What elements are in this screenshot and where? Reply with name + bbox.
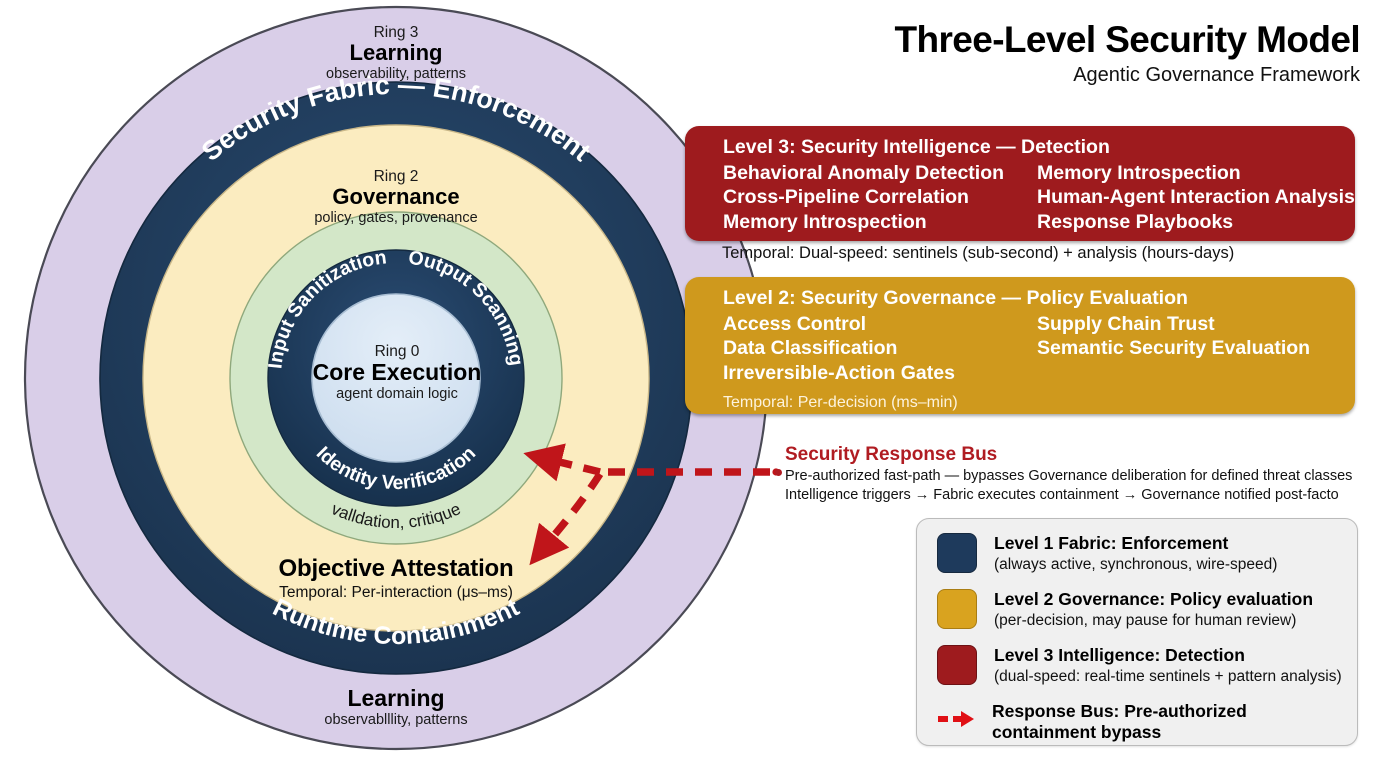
ring0-number: Ring 0 [286, 343, 508, 360]
ring3-bottom-label: Learning observablllity, patterns [246, 686, 546, 728]
level2-item: Data Classification [723, 336, 1037, 361]
ring0-name: Core Execution [286, 360, 508, 386]
level3-item: Cross-Pipeline Correlation [723, 185, 1037, 210]
response-bus-bullet-icon [775, 469, 782, 476]
ring2-sub: policy, gates, provenance [246, 210, 546, 226]
objective-attestation-label: Objective Attestation Temporal: Per-inte… [236, 555, 556, 602]
level2-temporal: Temporal: Per-decision (ms–min) [723, 394, 1355, 412]
legend-dashed-arrow-icon [937, 708, 975, 730]
ring3-top-label: Ring 3 Learning observability, patterns [246, 24, 546, 82]
level3-column-right: Memory Introspection Human-Agent Interac… [1037, 161, 1355, 235]
ring3-sub: observability, patterns [246, 66, 546, 82]
level3-temporal: Temporal: Dual-speed: sentinels (sub-sec… [722, 244, 1234, 263]
ring2-number: Ring 2 [246, 168, 546, 185]
level3-intelligence-panel[interactable]: Level 3: Security Intelligence — Detecti… [685, 126, 1355, 241]
level3-item: Memory Introspection [1037, 161, 1355, 186]
legend-title: Level 2 Governance: Policy evaluation [994, 589, 1313, 610]
ring3-number: Ring 3 [246, 24, 546, 41]
legend-item-level1: Level 1 Fabric: Enforcement (always acti… [937, 533, 1277, 574]
page-subtitle: Agentic Governance Framework [700, 64, 1360, 86]
legend-sub: (dual-speed: real-time sentinels + patte… [994, 667, 1342, 686]
legend-item-response-bus: Response Bus: Pre-authorized containment… [937, 701, 1247, 743]
legend-swatch-navy-icon [937, 533, 977, 573]
level3-column-left: Behavioral Anomaly Detection Cross-Pipel… [723, 161, 1037, 235]
level2-item: Semantic Security Evaluation [1037, 336, 1310, 361]
legend-title: Level 3 Intelligence: Detection [994, 645, 1342, 666]
level3-item: Response Playbooks [1037, 210, 1355, 235]
objective-attestation-temporal: Temporal: Per-interaction (μs–ms) [236, 584, 556, 602]
level3-item: Behavioral Anomaly Detection [723, 161, 1037, 186]
legend-swatch-gold-icon [937, 589, 977, 629]
response-bus-text-block: Security Response Bus Pre-authorized fas… [785, 444, 1355, 505]
ring2-top-label: Ring 2 Governance policy, gates, provena… [246, 168, 546, 226]
legend-sub: (always active, synchronous, wire-speed) [994, 555, 1277, 574]
level2-item: Supply Chain Trust [1037, 312, 1310, 337]
ring0-sub: agent domain logic [286, 386, 508, 402]
level3-item: Human-Agent Interaction Analysis [1037, 185, 1355, 210]
legend-sub: containment bypass [992, 722, 1247, 743]
response-bus-line1: Pre-authorized fast-path — bypasses Gove… [785, 467, 1355, 486]
legend-item-level3: Level 3 Intelligence: Detection (dual-sp… [937, 645, 1342, 686]
ring3-bottom-name: Learning [246, 686, 546, 712]
legend-item-level2: Level 2 Governance: Policy evaluation (p… [937, 589, 1313, 630]
level3-heading: Level 3: Security Intelligence — Detecti… [723, 135, 1355, 160]
level2-column-right: Supply Chain Trust Semantic Security Eva… [1037, 312, 1310, 386]
legend-box: Level 1 Fabric: Enforcement (always acti… [916, 518, 1358, 746]
legend-swatch-red-icon [937, 645, 977, 685]
title-block: Three-Level Security Model Agentic Gover… [700, 20, 1360, 86]
level2-heading: Level 2: Security Governance — Policy Ev… [723, 286, 1355, 311]
response-bus-line2: Intelligence triggers → Fabric executes … [785, 486, 1355, 505]
level2-column-left: Access Control Data Classification Irrev… [723, 312, 1037, 386]
level2-item: Access Control [723, 312, 1037, 337]
level3-item: Memory Introspection [723, 210, 1037, 235]
ring3-bottom-sub: observablllity, patterns [246, 712, 546, 728]
ring2-name: Governance [246, 185, 546, 210]
response-bus-title: Security Response Bus [785, 444, 1355, 467]
page-title: Three-Level Security Model [700, 20, 1360, 60]
legend-sub: (per-decision, may pause for human revie… [994, 611, 1313, 630]
level2-governance-panel[interactable]: Level 2: Security Governance — Policy Ev… [685, 277, 1355, 414]
ring0-core-label: Ring 0 Core Execution agent domain logic [286, 343, 508, 402]
diagram-canvas: Security Fabric — Enforcement Runtime Co… [0, 0, 1376, 768]
objective-attestation-title: Objective Attestation [236, 555, 556, 583]
ring3-name: Learning [246, 41, 546, 66]
legend-title: Response Bus: Pre-authorized [992, 701, 1247, 722]
level2-item: Irreversible-Action Gates [723, 361, 1037, 386]
legend-title: Level 1 Fabric: Enforcement [994, 533, 1277, 554]
